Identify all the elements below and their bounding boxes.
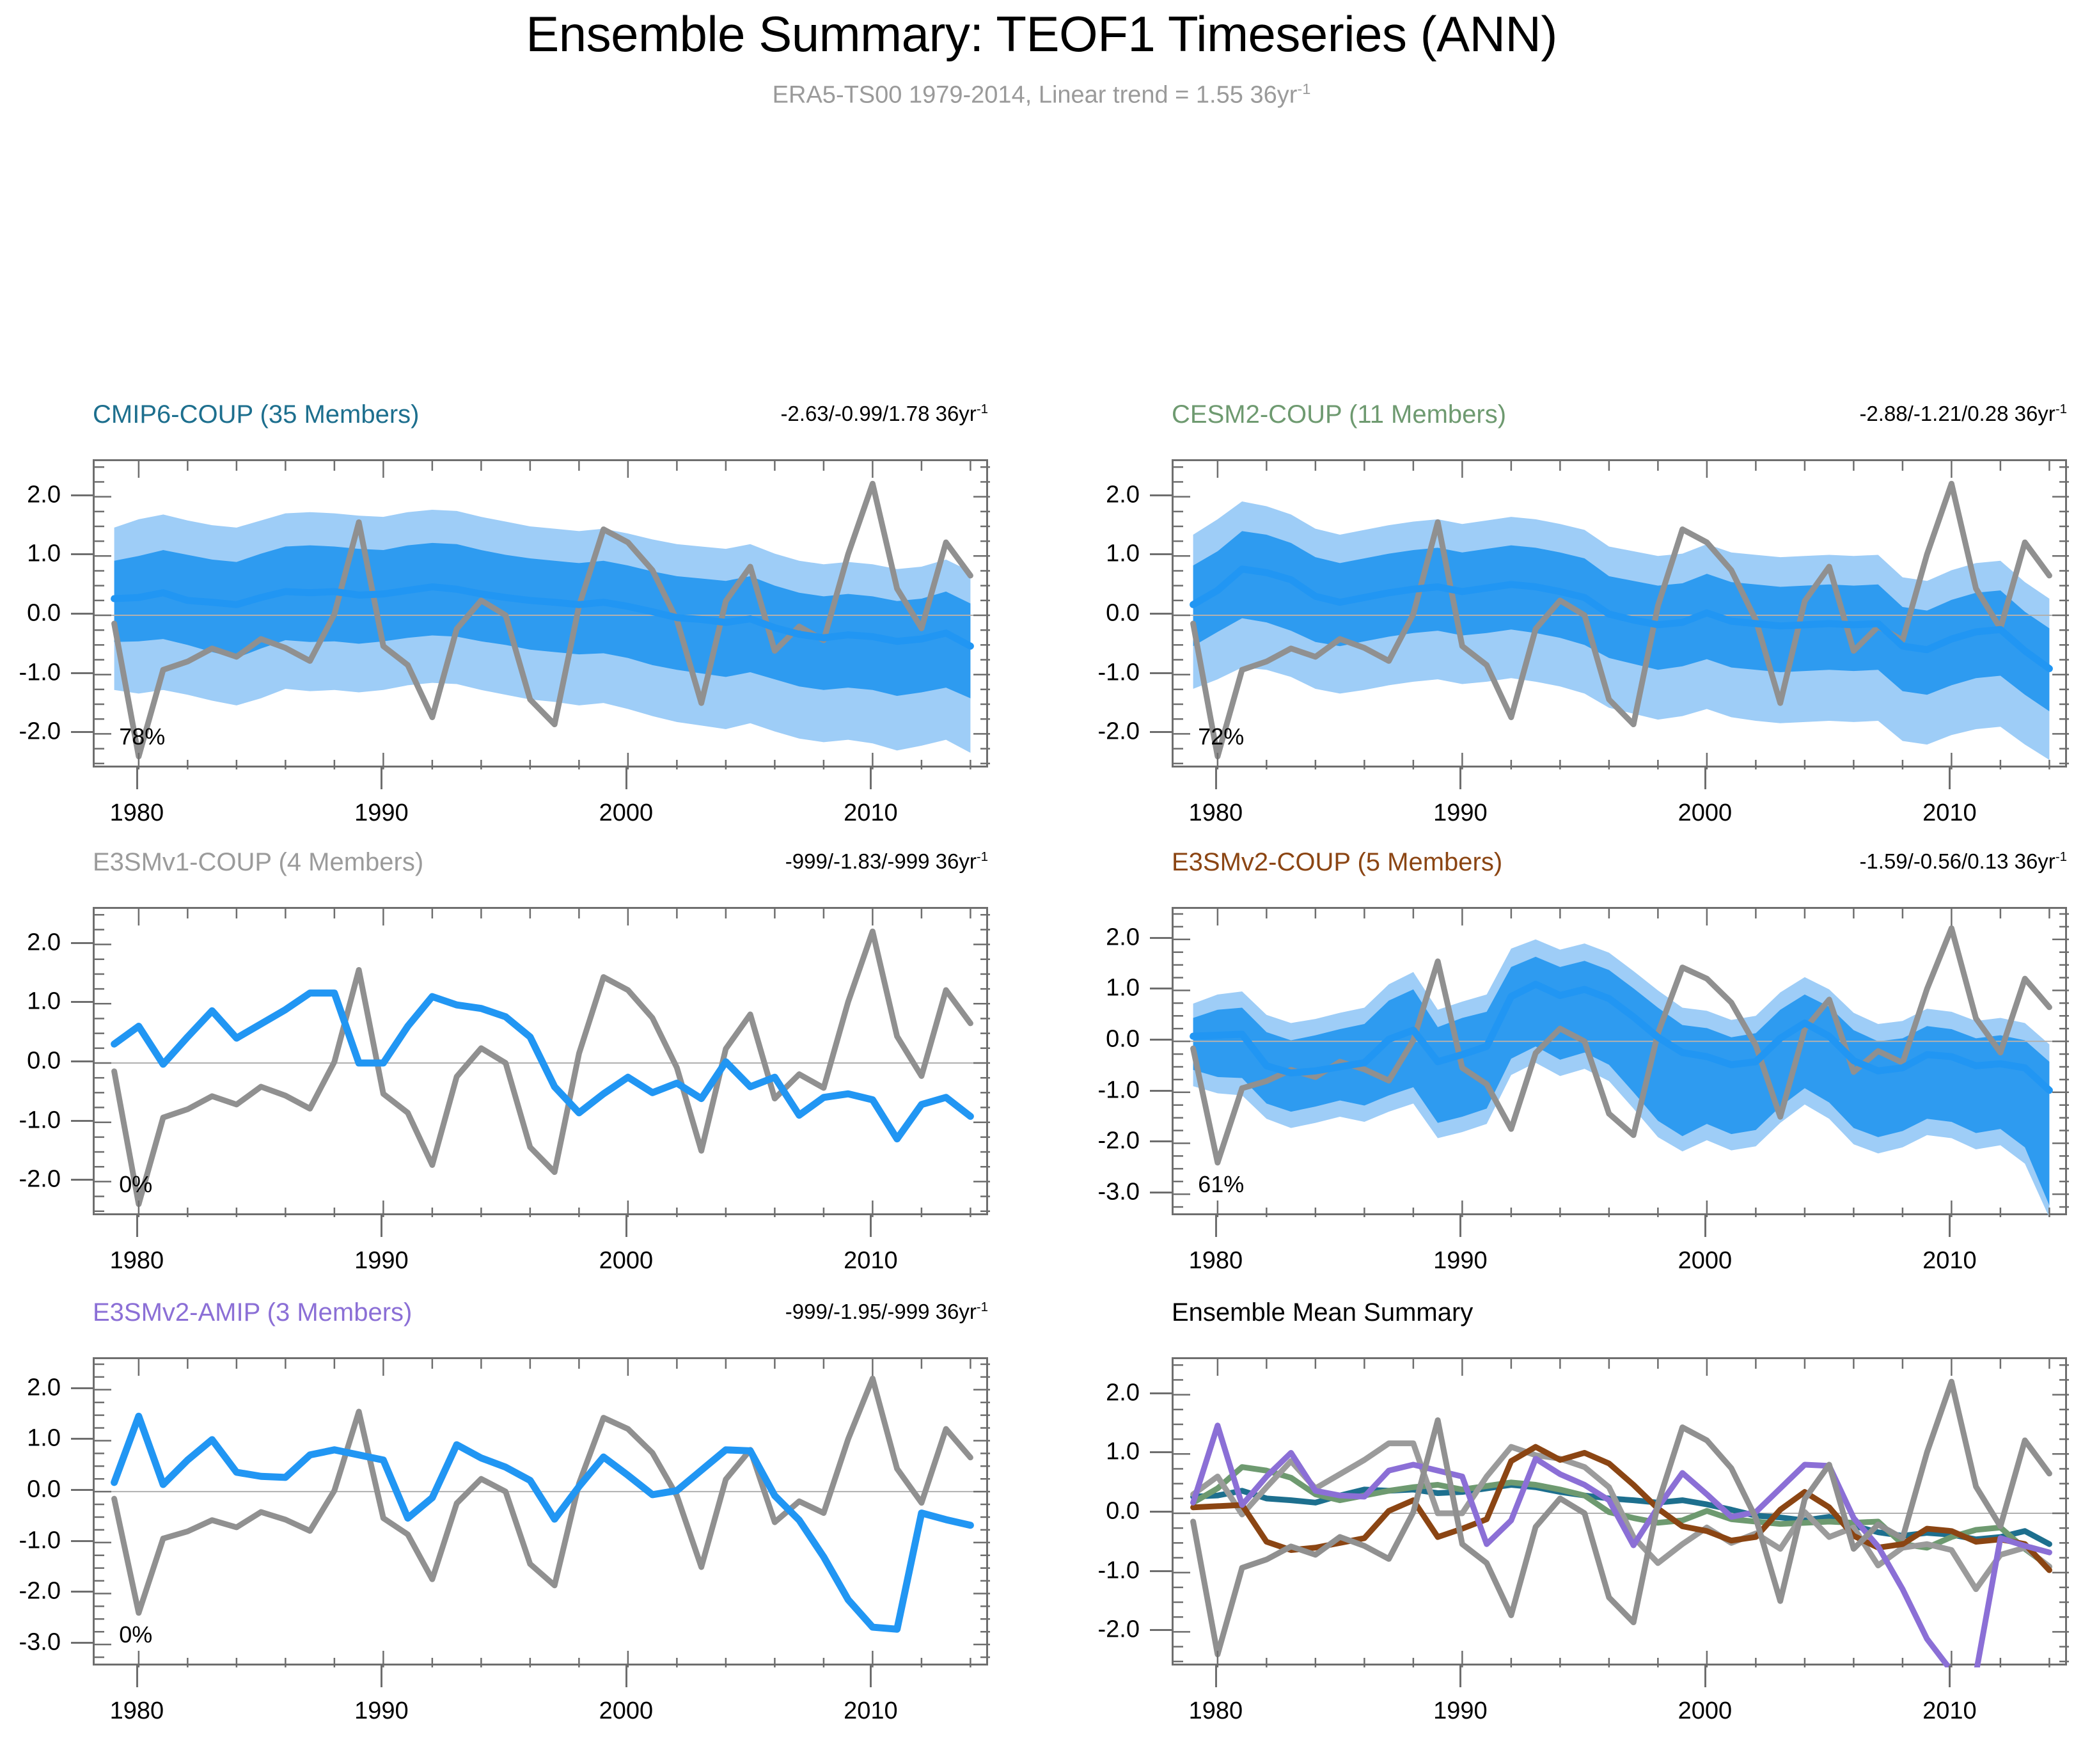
- panel-cesm2-coup: CESM2-COUP (11 Members)-2.88/-1.21/0.28 …: [1172, 400, 2067, 844]
- panel-header-e3smv2-amip: E3SMv2-AMIP (3 Members)-999/-1.95/-999 3…: [93, 1298, 988, 1328]
- y-tick-mark: [1150, 494, 1172, 496]
- x-tick-mark: [381, 1215, 382, 1237]
- x-tick-mark: [136, 768, 138, 789]
- y-tick-label: -3.0: [1012, 1179, 1140, 1206]
- panel-trend-cmip6-coup: -2.63/-0.99/1.78 36yr-1: [780, 402, 988, 426]
- y-tick-mark: [71, 1387, 93, 1389]
- trend-value: -999/-1.83/-999 36yr: [785, 849, 977, 873]
- x-tick-label: 1990: [354, 1247, 409, 1275]
- x-tick-mark: [1704, 1215, 1706, 1237]
- plot-svg-cmip6-coup: [95, 461, 990, 769]
- y-tick-mark: [1150, 731, 1172, 733]
- x-tick-label: 2010: [1922, 1247, 1977, 1275]
- plot-svg-e3smv2-coup: [1174, 909, 2069, 1217]
- x-tick-label: 2000: [1678, 1697, 1733, 1725]
- plot-area-e3smv2-amip: 0%: [93, 1357, 988, 1666]
- panel-trend-cesm2-coup: -2.88/-1.21/0.28 36yr-1: [1859, 402, 2067, 426]
- y-tick-label: -1.0: [1012, 1557, 1140, 1584]
- plot-svg-e3smv2-amip: [95, 1359, 990, 1667]
- trend-exponent: -1: [977, 849, 988, 864]
- x-tick-mark: [870, 768, 872, 789]
- y-tick-mark: [71, 1489, 93, 1491]
- y-tick-mark: [71, 1591, 93, 1593]
- x-tick-mark: [136, 1215, 138, 1237]
- x-tick-label: 2000: [1678, 1247, 1733, 1275]
- y-tick-label: -2.0: [0, 1578, 61, 1605]
- x-tick-mark: [625, 1666, 627, 1687]
- y-tick-label: 2.0: [1012, 481, 1140, 508]
- x-tick-label: 1980: [110, 1697, 164, 1725]
- y-tick-mark: [71, 1438, 93, 1440]
- x-tick-mark: [1704, 768, 1706, 789]
- x-tick-label: 2010: [1922, 1697, 1977, 1725]
- plot-area-cesm2-coup: 72%: [1172, 459, 2067, 768]
- y-tick-mark: [71, 1001, 93, 1003]
- panel-header-e3smv1-coup: E3SMv1-COUP (4 Members)-999/-1.83/-999 3…: [93, 848, 988, 878]
- plot-svg-e3smv1-coup: [95, 909, 990, 1217]
- panel-e3smv1-coup: E3SMv1-COUP (4 Members)-999/-1.83/-999 3…: [93, 848, 988, 1292]
- x-tick-label: 1990: [1433, 1247, 1488, 1275]
- x-tick-label: 2010: [844, 1247, 898, 1275]
- x-tick-mark: [381, 768, 382, 789]
- y-tick-label: 2.0: [1012, 1379, 1140, 1406]
- y-tick-label: -1.0: [0, 1527, 61, 1554]
- y-tick-mark: [1150, 1511, 1172, 1513]
- panel-title-ensemble-mean-summary: Ensemble Mean Summary: [1172, 1298, 1473, 1327]
- x-tick-label: 2000: [1678, 799, 1733, 827]
- y-tick-mark: [1150, 988, 1172, 989]
- figure-root: Ensemble Summary: TEOF1 Timeseries (ANN)…: [0, 0, 2083, 1764]
- x-tick-mark: [1459, 768, 1461, 789]
- y-tick-label: -2.0: [0, 1166, 61, 1193]
- y-tick-label: -1.0: [1012, 659, 1140, 686]
- pct-within-spread-label: 78%: [119, 723, 165, 750]
- y-tick-mark: [71, 553, 93, 555]
- x-tick-mark: [870, 1666, 872, 1687]
- y-tick-label: 2.0: [0, 481, 61, 508]
- x-tick-label: 2010: [844, 799, 898, 827]
- panel-e3smv2-coup: E3SMv2-COUP (5 Members)-1.59/-0.56/0.13 …: [1172, 848, 2067, 1292]
- y-tick-mark: [71, 1179, 93, 1181]
- y-tick-mark: [1150, 1629, 1172, 1631]
- y-tick-label: -1.0: [0, 1106, 61, 1134]
- x-tick-mark: [1704, 1666, 1706, 1687]
- y-tick-label: 1.0: [0, 540, 61, 568]
- y-tick-mark: [71, 1540, 93, 1542]
- x-tick-label: 1980: [110, 1247, 164, 1275]
- y-tick-mark: [1150, 553, 1172, 555]
- x-tick-label: 2000: [599, 1247, 654, 1275]
- y-tick-mark: [1150, 1392, 1172, 1394]
- trend-value: -999/-1.95/-999 36yr: [785, 1300, 977, 1323]
- panel-e3smv2-amip: E3SMv2-AMIP (3 Members)-999/-1.95/-999 3…: [93, 1298, 988, 1742]
- y-tick-mark: [71, 672, 93, 674]
- x-tick-mark: [870, 1215, 872, 1237]
- subtitle-text: ERA5-TS00 1979-2014, Linear trend = 1.55…: [773, 82, 1298, 109]
- y-tick-label: 0.0: [1012, 1498, 1140, 1525]
- x-tick-label: 1980: [110, 799, 164, 827]
- trend-exponent: -1: [977, 402, 988, 416]
- y-tick-mark: [1150, 937, 1172, 939]
- x-tick-mark: [1949, 768, 1951, 789]
- y-tick-label: 0.0: [0, 1476, 61, 1504]
- panel-header-ensemble-mean-summary: Ensemble Mean Summary: [1172, 1298, 2067, 1328]
- x-tick-mark: [1949, 1666, 1951, 1687]
- y-tick-label: -3.0: [0, 1629, 61, 1657]
- x-tick-mark: [1949, 1215, 1951, 1237]
- panel-title-cmip6-coup: CMIP6-COUP (35 Members): [93, 400, 419, 429]
- y-tick-mark: [1150, 1039, 1172, 1041]
- y-tick-mark: [71, 1642, 93, 1644]
- plot-svg-cesm2-coup: [1174, 461, 2069, 769]
- y-tick-label: 1.0: [0, 988, 61, 1016]
- y-tick-mark: [71, 1060, 93, 1062]
- y-tick-mark: [1150, 613, 1172, 615]
- x-tick-mark: [1459, 1215, 1461, 1237]
- panel-trend-e3smv2-coup: -1.59/-0.56/0.13 36yr-1: [1859, 849, 2067, 874]
- y-tick-label: 2.0: [0, 929, 61, 956]
- x-tick-label: 2010: [1922, 799, 1977, 827]
- y-tick-label: 1.0: [1012, 540, 1140, 568]
- y-tick-mark: [1150, 1570, 1172, 1572]
- x-tick-mark: [625, 768, 627, 789]
- y-tick-label: -1.0: [1012, 1076, 1140, 1104]
- panel-title-e3smv2-coup: E3SMv2-COUP (5 Members): [1172, 848, 1502, 877]
- panel-trend-e3smv2-amip: -999/-1.95/-999 36yr-1: [785, 1300, 988, 1324]
- panel-header-cesm2-coup: CESM2-COUP (11 Members)-2.88/-1.21/0.28 …: [1172, 400, 2067, 430]
- x-tick-label: 1980: [1189, 1697, 1243, 1725]
- panel-title-e3smv2-amip: E3SMv2-AMIP (3 Members): [93, 1298, 412, 1327]
- y-tick-label: 2.0: [0, 1374, 61, 1401]
- pct-within-spread-label: 0%: [119, 1171, 152, 1198]
- x-tick-label: 2010: [844, 1697, 898, 1725]
- y-tick-label: 0.0: [1012, 1026, 1140, 1053]
- plot-area-e3smv1-coup: 0%: [93, 907, 988, 1215]
- y-tick-mark: [1150, 1192, 1172, 1193]
- y-tick-label: 1.0: [0, 1425, 61, 1453]
- subtitle-exponent: -1: [1297, 81, 1310, 97]
- y-tick-label: 0.0: [0, 1048, 61, 1075]
- panel-trend-e3smv1-coup: -999/-1.83/-999 36yr-1: [785, 849, 988, 874]
- plot-area-ensemble-mean-summary: [1172, 1357, 2067, 1666]
- x-tick-label: 1980: [1189, 799, 1243, 827]
- panel-header-e3smv2-coup: E3SMv2-COUP (5 Members)-1.59/-0.56/0.13 …: [1172, 848, 2067, 878]
- trend-exponent: -1: [2055, 849, 2067, 864]
- x-tick-label: 1990: [1433, 799, 1488, 827]
- x-tick-label: 1990: [354, 799, 409, 827]
- x-tick-mark: [625, 1215, 627, 1237]
- panel-cmip6-coup: CMIP6-COUP (35 Members)-2.63/-0.99/1.78 …: [93, 400, 988, 844]
- plot-area-cmip6-coup: 78%: [93, 459, 988, 768]
- y-tick-label: 0.0: [0, 600, 61, 627]
- panel-header-cmip6-coup: CMIP6-COUP (35 Members)-2.63/-0.99/1.78 …: [93, 400, 988, 430]
- y-tick-mark: [71, 942, 93, 944]
- y-tick-mark: [1150, 1090, 1172, 1092]
- y-tick-mark: [71, 1120, 93, 1122]
- x-tick-mark: [381, 1666, 382, 1687]
- y-tick-label: 2.0: [1012, 924, 1140, 951]
- y-tick-mark: [1150, 672, 1172, 674]
- x-tick-mark: [1459, 1666, 1461, 1687]
- x-tick-label: 1980: [1189, 1247, 1243, 1275]
- panel-ensemble-mean-summary: Ensemble Mean Summary2.01.00.0-1.0-2.019…: [1172, 1298, 2067, 1742]
- x-tick-label: 1990: [1433, 1697, 1488, 1725]
- plot-area-e3smv2-coup: 61%: [1172, 907, 2067, 1215]
- trend-exponent: -1: [2055, 402, 2067, 416]
- pct-within-spread-label: 72%: [1198, 723, 1244, 750]
- trend-value: -2.63/-0.99/1.78 36yr: [780, 402, 976, 425]
- y-tick-label: -1.0: [0, 659, 61, 686]
- x-tick-label: 2000: [599, 799, 654, 827]
- axis-ticks: [95, 1359, 990, 1667]
- trend-exponent: -1: [977, 1300, 988, 1314]
- y-tick-mark: [1150, 1140, 1172, 1142]
- y-tick-label: 1.0: [1012, 975, 1140, 1002]
- y-tick-label: -2.0: [1012, 1616, 1140, 1644]
- plot-svg-ensemble-mean-summary: [1174, 1359, 2069, 1667]
- panel-title-e3smv1-coup: E3SMv1-COUP (4 Members): [93, 848, 423, 877]
- page-title: Ensemble Summary: TEOF1 Timeseries (ANN): [0, 5, 2083, 63]
- y-tick-label: -2.0: [1012, 718, 1140, 746]
- figure-subtitle: ERA5-TS00 1979-2014, Linear trend = 1.55…: [0, 81, 2083, 109]
- x-tick-mark: [1215, 1666, 1217, 1687]
- panel-title-cesm2-coup: CESM2-COUP (11 Members): [1172, 400, 1506, 429]
- trend-value: -2.88/-1.21/0.28 36yr: [1859, 402, 2055, 425]
- y-tick-mark: [71, 731, 93, 733]
- x-tick-mark: [136, 1666, 138, 1687]
- y-tick-label: -2.0: [0, 718, 61, 746]
- y-tick-label: -2.0: [1012, 1128, 1140, 1155]
- x-tick-label: 2000: [599, 1697, 654, 1725]
- x-tick-mark: [1215, 768, 1217, 789]
- trend-value: -1.59/-0.56/0.13 36yr: [1859, 849, 2055, 873]
- y-tick-mark: [71, 494, 93, 496]
- x-tick-label: 1990: [354, 1697, 409, 1725]
- y-tick-mark: [1150, 1451, 1172, 1453]
- y-tick-mark: [71, 613, 93, 615]
- y-tick-label: 0.0: [1012, 600, 1140, 627]
- pct-within-spread-label: 0%: [119, 1621, 152, 1648]
- pct-within-spread-label: 61%: [1198, 1171, 1244, 1198]
- x-tick-mark: [1215, 1215, 1217, 1237]
- y-tick-label: 1.0: [1012, 1438, 1140, 1466]
